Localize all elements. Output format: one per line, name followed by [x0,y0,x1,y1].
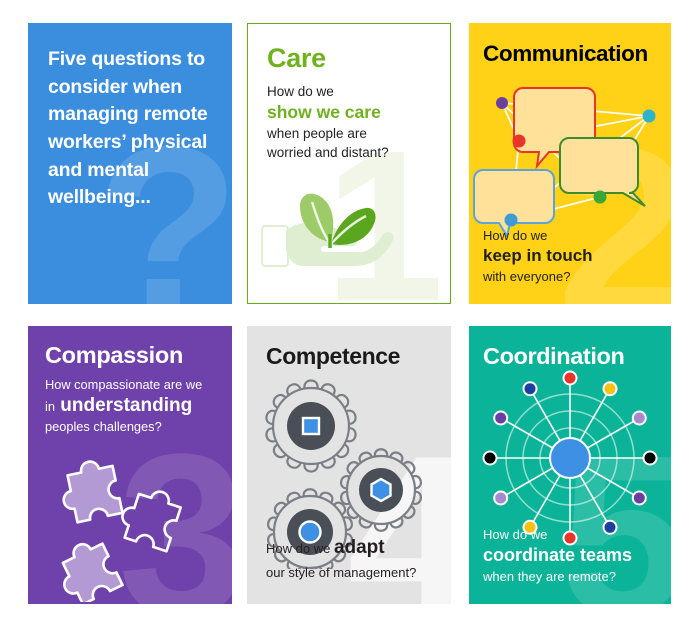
card-communication: 2 Communication [469,23,671,304]
competence-line-1: How do we [266,541,330,556]
compassion-heading: Compassion [28,326,232,369]
coordination-highlight: coordinate teams [483,544,632,567]
compassion-question: How compassionate are we in understandin… [28,369,232,436]
compassion-highlight: understanding [60,395,192,416]
communication-highlight: keep in touch [483,245,593,267]
care-heading: Care [248,24,450,74]
coordination-question: How do we coordinate teams when they are… [483,526,632,586]
card-compassion: 3 Compassion How compassionate are we in… [28,326,232,604]
compassion-line-3: peoples challenges? [45,419,162,434]
competence-heading: Competence [247,326,451,370]
care-question: How do we show we care when people are w… [248,74,450,162]
card-intro: ? Five questions to consider when managi… [28,23,232,304]
communication-question: How do we keep in touch with everyone? [483,227,593,286]
compassion-prefix: in [45,399,55,414]
communication-line-3: with everyone? [483,269,570,284]
care-line-1: How do we [267,84,334,99]
communication-heading: Communication [469,23,671,67]
coordination-heading: Coordination [469,326,671,370]
competence-question: How do we adapt our style of management? [266,534,416,582]
coordination-line-1: How do we [483,527,547,542]
poster-board: ? Five questions to consider when managi… [0,0,690,623]
care-highlight: show we care [267,101,450,124]
card-coordination: 5 Coordination [469,326,671,604]
hand-holding-plant-icon [260,156,400,281]
compassion-line-1: How compassionate are we [45,377,202,392]
competence-line-3: our style of management? [266,565,416,580]
coordination-line-3: when they are remote? [483,569,616,584]
communication-line-1: How do we [483,228,547,243]
card-care: 1 Care How do we show we care when peopl… [247,23,451,304]
speech-bubble-network-icon [469,75,671,250]
card-competence: 4 Competence [247,326,451,604]
intro-title: Five questions to consider when managing… [28,23,232,212]
care-line-3: when people are [267,126,367,141]
competence-highlight: adapt [334,537,385,558]
puzzle-pieces-icon [52,442,212,604]
compassion-highlight-row: in understanding [45,394,232,418]
